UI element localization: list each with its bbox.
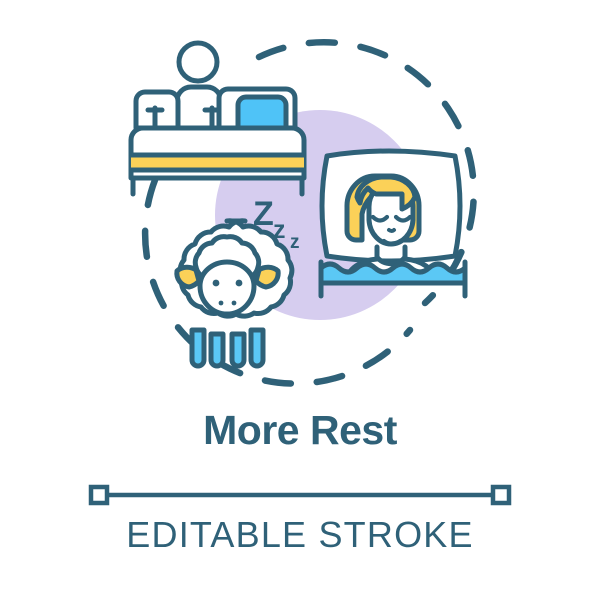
sheep-legs: [192, 330, 263, 366]
woman-nose: [389, 230, 394, 231]
sheep-leg-1: [192, 330, 204, 366]
sleeping-woman-pillow: [321, 151, 465, 296]
sheep-eye-left: [213, 280, 220, 287]
sheep-nostril-left: [219, 301, 224, 306]
person-head: [179, 43, 217, 81]
sheep-leg-3: [232, 334, 244, 366]
square-handle-right: [493, 487, 509, 503]
sheep-nostril-right: [232, 301, 237, 306]
page-title: More Rest: [203, 407, 398, 453]
sheep-leg-4: [251, 330, 263, 366]
sheep-eye-right: [236, 280, 243, 287]
concept-icon-card: Z z z: [0, 0, 600, 600]
zzz-letter-3: z: [290, 232, 300, 253]
sheep-face: [200, 262, 254, 314]
illustration-artboard: Z z z: [0, 0, 600, 600]
bed-with-person: [131, 43, 304, 194]
pillow-blue: [238, 97, 286, 128]
sheep-leg-2: [211, 334, 223, 366]
stroke-marker: [91, 487, 509, 503]
editable-stroke-caption: EDITABLE STROKE: [126, 514, 473, 555]
square-handle-left: [91, 487, 107, 503]
sheep: [177, 221, 292, 366]
